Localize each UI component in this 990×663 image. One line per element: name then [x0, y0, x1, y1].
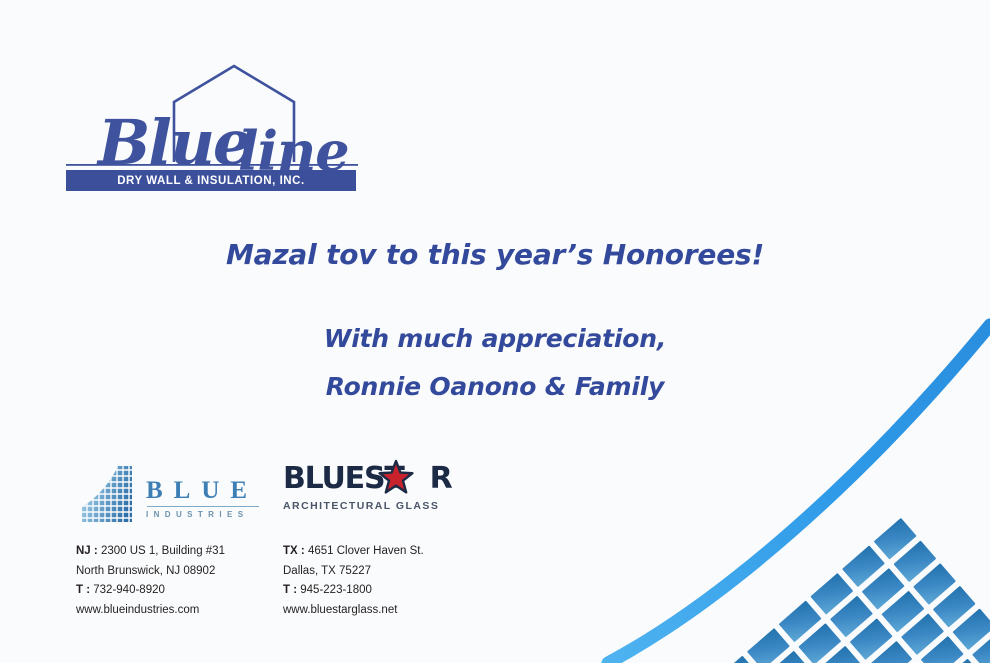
bluestar-name: BLUESTR [283, 462, 448, 496]
blueline-script-blue: Blue [96, 106, 250, 179]
message-line-1: With much appreciation, [0, 324, 990, 354]
blue-industries-rule [147, 506, 259, 508]
bluestar-name-part-2: R [430, 461, 452, 496]
blueline-banner: DRY WALL & INSULATION, INC. [66, 170, 356, 191]
message-headline: Mazal tov to this year’s Honorees! [0, 238, 990, 272]
blue-industries-logo: BLUE INDUSTRIES [76, 458, 261, 526]
contact-tx-address-1: TX : 4651 Clover Haven St. [283, 542, 483, 562]
blue-industries-name: BLUE [146, 477, 259, 504]
contact-tx-address-2: Dallas, TX 75227 [283, 562, 483, 582]
star-icon [378, 459, 414, 495]
contact-tx-phone-row: T : 945-223-1800 [283, 581, 483, 601]
message-line-2: Ronnie Oanono & Family [0, 372, 990, 402]
curved-glass-tile-grid [684, 518, 990, 663]
contact-tx-website[interactable]: www.bluestarglass.net [283, 601, 483, 621]
contact-nj-address-2: North Brunswick, NJ 08902 [76, 562, 276, 582]
blue-industries-wordmark: BLUE INDUSTRIES [146, 477, 259, 521]
bluestar-tagline: ARCHITECTURAL GLASS [283, 499, 448, 513]
bluestar-wordmark: BLUESTR [283, 462, 448, 496]
logo-rule [66, 164, 358, 166]
svg-text:Blue: Blue [96, 106, 250, 179]
contact-tx-label: TX : [283, 545, 305, 557]
blueline-banner-text: DRY WALL & INSULATION, INC. [117, 175, 305, 187]
contact-nj-label: NJ : [76, 545, 98, 557]
contact-tx-street: 4651 Clover Haven St. [308, 545, 424, 557]
contact-block-nj: NJ : 2300 US 1, Building #31 North Bruns… [76, 542, 276, 620]
contact-block-tx: TX : 4651 Clover Haven St. Dallas, TX 75… [283, 542, 483, 620]
contact-nj-address-1: NJ : 2300 US 1, Building #31 [76, 542, 276, 562]
contact-nj-website[interactable]: www.blueindustries.com [76, 601, 276, 621]
message-block: Mazal tov to this year’s Honorees! With … [0, 238, 990, 402]
blue-industries-tagline: INDUSTRIES [146, 510, 259, 520]
bluestar-logo: BLUESTR ARCHITECTURAL GLASS [283, 462, 448, 522]
contact-tx-phone-label: T : [283, 584, 297, 596]
contact-nj-phone-row: T : 732-940-8920 [76, 581, 276, 601]
contact-nj-street: 2300 US 1, Building #31 [101, 545, 225, 557]
contact-nj-phone-label: T : [76, 584, 90, 596]
curved-highrise-building-icon [76, 460, 136, 526]
greeting-card: Blue line DRY WALL & INSULATION, INC. Ma… [0, 0, 990, 663]
contact-tx-phone[interactable]: 945-223-1800 [300, 584, 372, 596]
contact-nj-phone[interactable]: 732-940-8920 [93, 584, 165, 596]
